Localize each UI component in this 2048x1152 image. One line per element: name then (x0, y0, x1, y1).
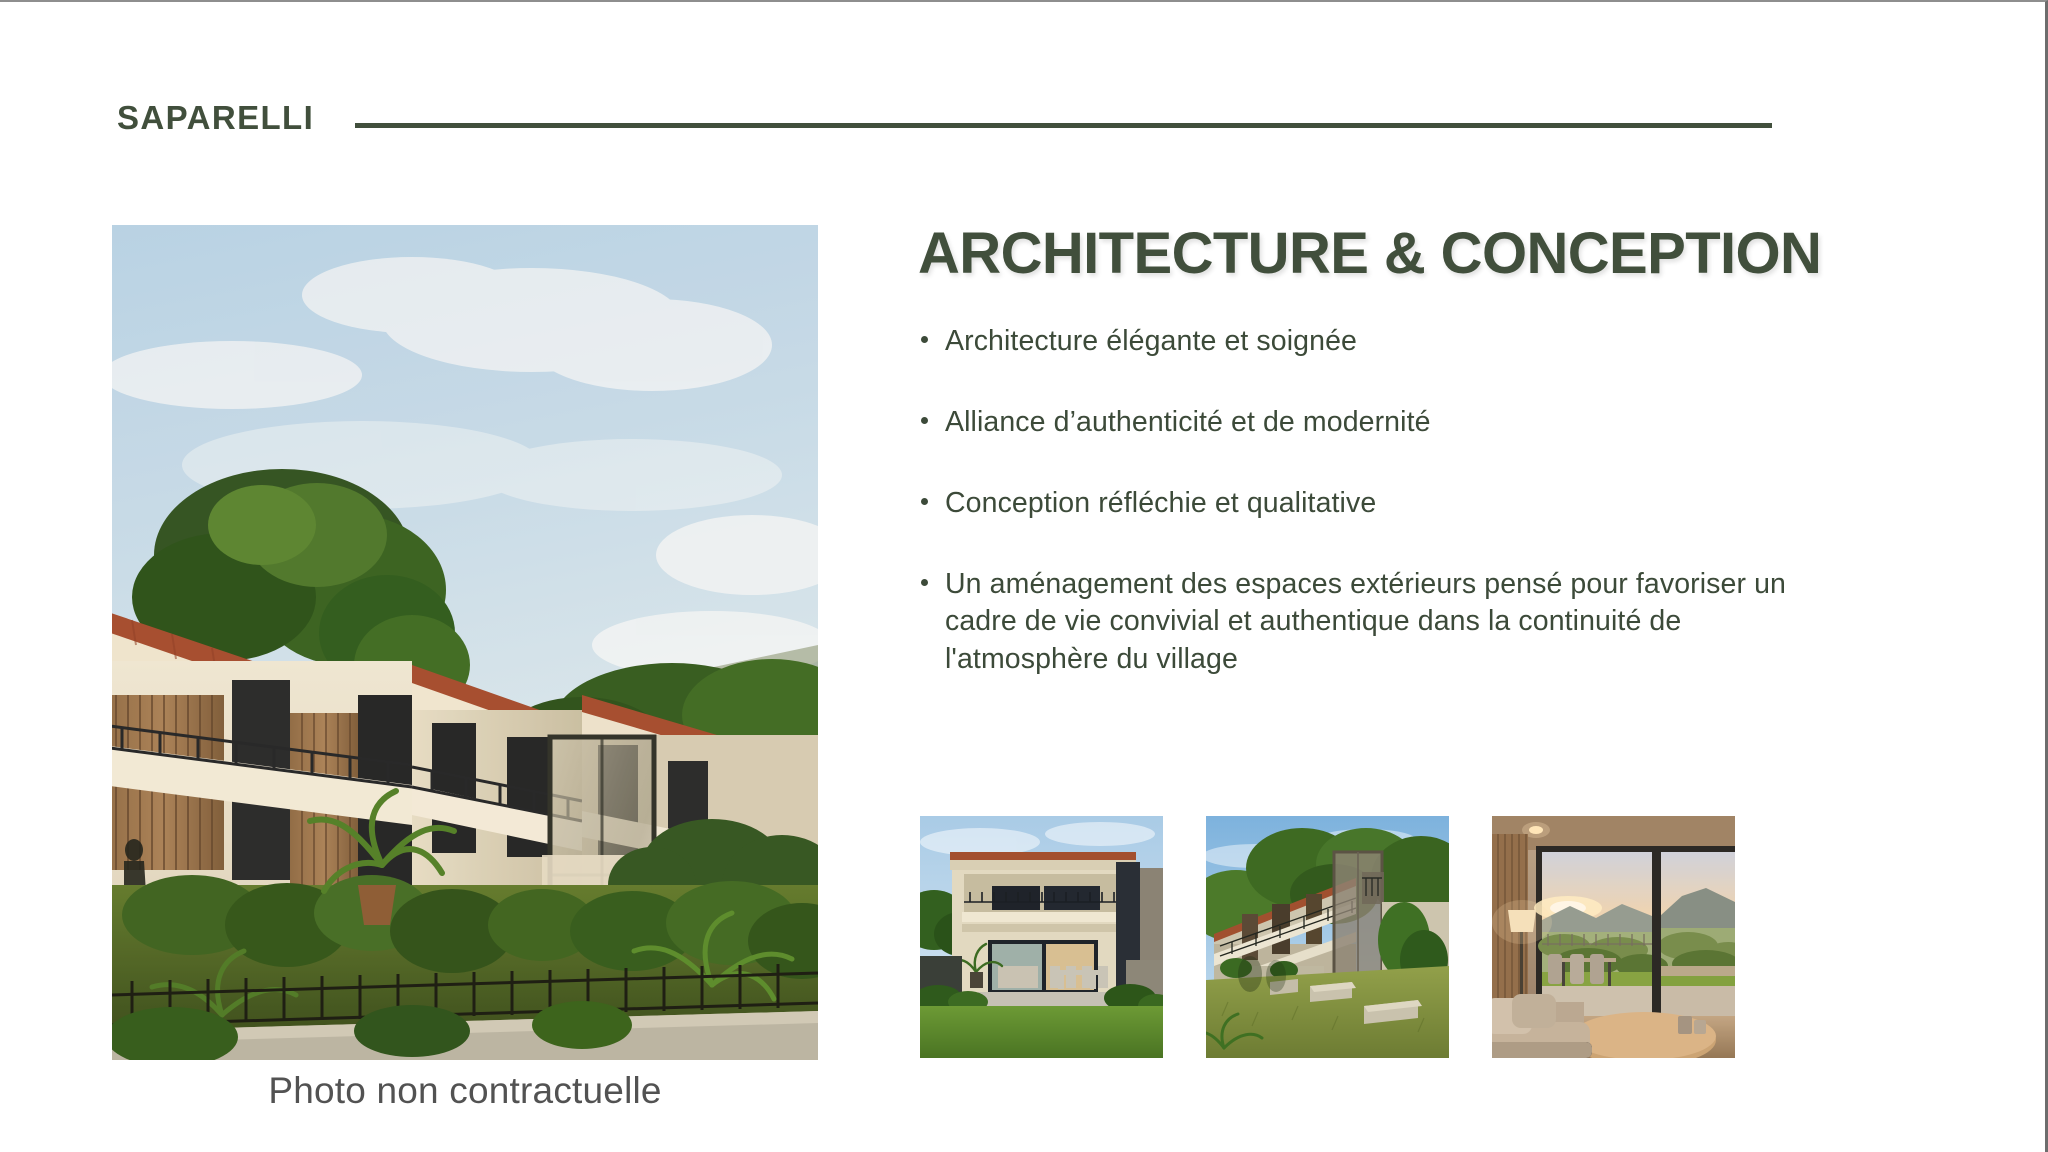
slide-root: saparelli SAPARELLI (0, 0, 2048, 1152)
bullet-dot-icon (921, 336, 928, 343)
header-divider (355, 123, 1772, 128)
brand-title: SAPARELLI (117, 99, 314, 137)
bullet-dot-icon (921, 498, 928, 505)
hero-caption: Photo non contractuelle (112, 1070, 818, 1112)
thumbnail-hillside-apartments[interactable] (1206, 816, 1449, 1058)
hillside-apartments-illustration (1206, 816, 1449, 1058)
list-item: Alliance d’authenticité et de modernité (918, 404, 1788, 442)
thumbnail-gallery (920, 816, 1735, 1058)
bullet-dot-icon (921, 579, 928, 586)
list-item-label: Conception réfléchie et qualitative (945, 487, 1376, 519)
thumbnail-villa-garden[interactable] (920, 816, 1163, 1058)
thumbnail-living-room-view[interactable] (1492, 816, 1735, 1058)
content-column: ARCHITECTURE & CONCEPTION Architecture é… (918, 224, 1788, 679)
list-item: Un aménagement des espaces extérieurs pe… (918, 566, 1788, 680)
hero-render-illustration (112, 225, 818, 1060)
list-item-label: Un aménagement des espaces extérieurs pe… (945, 568, 1786, 676)
feature-list: Architecture élégante et soignée Allianc… (918, 323, 1788, 679)
living-room-view-illustration (1492, 816, 1735, 1058)
villa-garden-illustration (920, 816, 1163, 1058)
list-item-label: Alliance d’authenticité et de modernité (945, 406, 1431, 438)
list-item: Conception réfléchie et qualitative (918, 485, 1788, 523)
list-item: Architecture élégante et soignée (918, 323, 1788, 361)
page-title: ARCHITECTURE & CONCEPTION (918, 224, 1788, 285)
hero-image (112, 225, 818, 1060)
bullet-dot-icon (921, 417, 928, 424)
list-item-label: Architecture élégante et soignée (945, 325, 1357, 357)
